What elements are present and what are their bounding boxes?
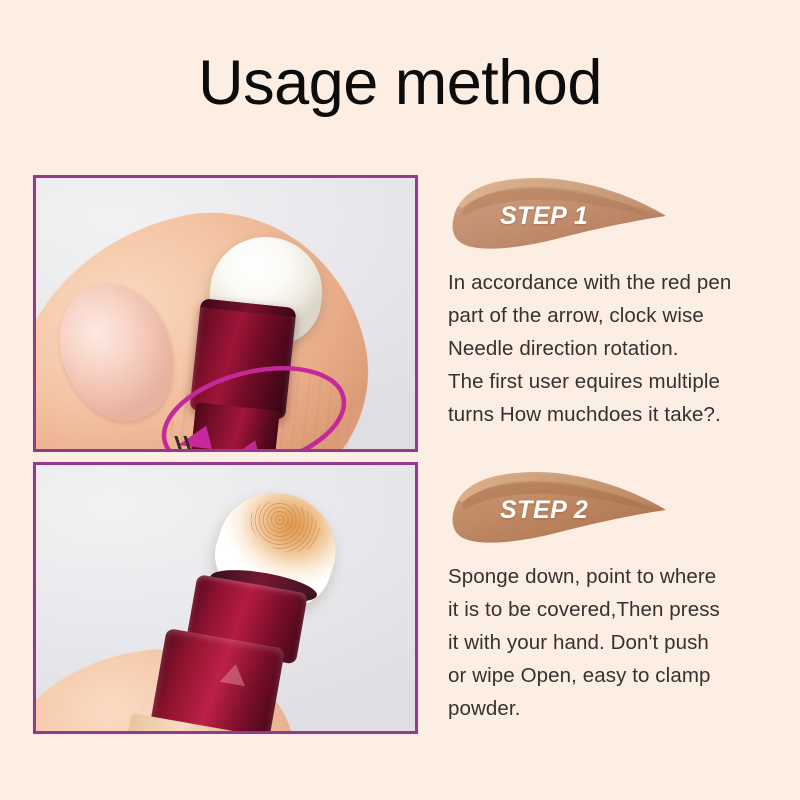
step-1-line-2: part of the arrow, clock wise bbox=[448, 299, 778, 332]
step-2-line-5: powder. bbox=[448, 692, 778, 725]
photo-step-2-scene bbox=[36, 465, 415, 731]
step-1-line-5: turns How muchdoes it take?. bbox=[448, 398, 778, 431]
applicator-device-loaded bbox=[126, 468, 352, 731]
step-2-line-1: Sponge down, point to where bbox=[448, 560, 778, 593]
applicator-barrel bbox=[189, 402, 280, 449]
step-1-text: In accordance with the red pen part of t… bbox=[448, 266, 778, 431]
step-1-label: STEP 1 bbox=[500, 202, 588, 231]
barrel-triangle-mark bbox=[219, 662, 248, 686]
step-2-text: Sponge down, point to where it is to be … bbox=[448, 560, 778, 725]
step-1-line-1: In accordance with the red pen bbox=[448, 266, 778, 299]
step-2-smear: STEP 2 bbox=[448, 466, 676, 552]
thumbnail bbox=[41, 268, 192, 437]
photo-step-1-scene bbox=[36, 178, 415, 449]
applicator-cap bbox=[189, 298, 296, 419]
step-1-block: STEP 1 In accordance with the red pen pa… bbox=[448, 172, 778, 431]
step-2-line-4: or wipe Open, easy to clamp bbox=[448, 659, 778, 692]
photo-step-1 bbox=[33, 175, 418, 452]
step-2-block: STEP 2 Sponge down, point to where it is… bbox=[448, 466, 778, 725]
step-1-smear: STEP 1 bbox=[448, 172, 676, 258]
page-title: Usage method bbox=[0, 48, 800, 118]
step-2-line-2: it is to be covered,Then press bbox=[448, 593, 778, 626]
photo-corner-mark bbox=[164, 436, 194, 449]
step-2-label: STEP 2 bbox=[500, 496, 588, 525]
step-1-line-4: The first user equires multiple bbox=[448, 365, 778, 398]
infographic-page: Usage method bbox=[0, 0, 800, 800]
photo-step-2 bbox=[33, 462, 418, 734]
step-2-line-3: it with your hand. Don't push bbox=[448, 626, 778, 659]
step-1-line-3: Needle direction rotation. bbox=[448, 332, 778, 365]
